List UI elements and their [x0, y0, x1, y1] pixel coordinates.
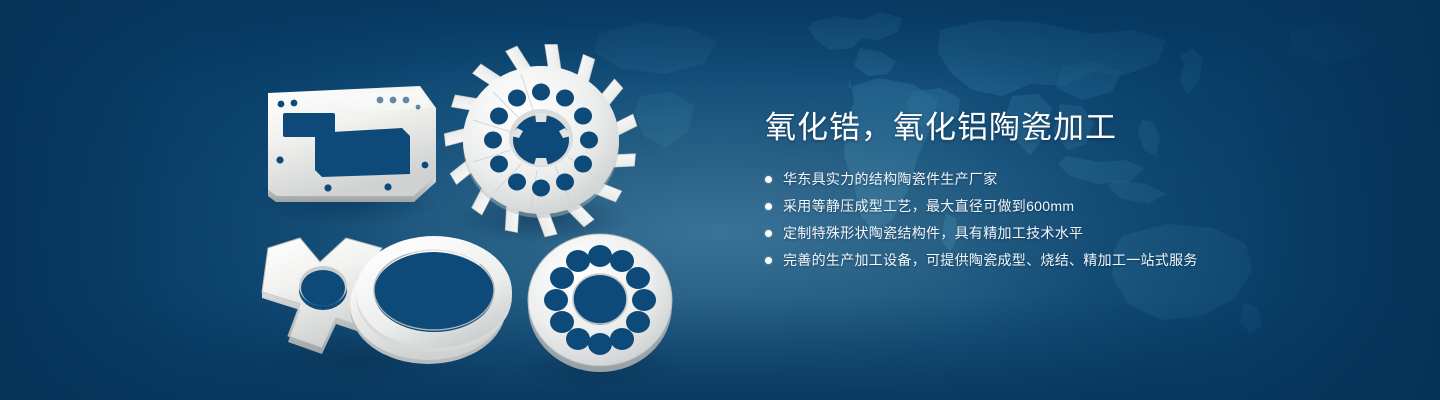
bullet-dot-icon — [765, 176, 772, 183]
feature-text: 完善的生产加工设备，可提供陶瓷成型、烧结、精加工一站式服务 — [783, 250, 1198, 271]
bullet-dot-icon — [765, 203, 772, 210]
list-item: 完善的生产加工设备，可提供陶瓷成型、烧结、精加工一站式服务 — [765, 250, 1385, 271]
list-item: 采用等静压成型工艺，最大直径可做到600mm — [765, 196, 1385, 217]
list-item: 华东具实力的结构陶瓷件生产厂家 — [765, 169, 1385, 190]
feature-text: 华东具实力的结构陶瓷件生产厂家 — [783, 169, 998, 190]
ceramic-machined-plate — [268, 86, 436, 202]
banner-copy: 氧化锆，氧化铝陶瓷加工 华东具实力的结构陶瓷件生产厂家 采用等静压成型工艺，最大… — [765, 108, 1385, 277]
bullet-dot-icon — [765, 257, 772, 264]
page-title: 氧化锆，氧化铝陶瓷加工 — [765, 108, 1385, 148]
feature-list: 华东具实力的结构陶瓷件生产厂家 采用等静压成型工艺，最大直径可做到600mm 定… — [765, 169, 1385, 271]
feature-text: 定制特殊形状陶瓷结构件，具有精加工技术水平 — [783, 223, 1083, 244]
ceramic-perforated-disc — [528, 234, 672, 372]
hero-banner: 氧化锆，氧化铝陶瓷加工 华东具实力的结构陶瓷件生产厂家 采用等静压成型工艺，最大… — [0, 0, 1440, 400]
product-photo-group — [0, 0, 720, 400]
list-item: 定制特殊形状陶瓷结构件，具有精加工技术水平 — [765, 223, 1385, 244]
feature-text: 采用等静压成型工艺，最大直径可做到600mm — [783, 196, 1074, 217]
bullet-dot-icon — [765, 230, 772, 237]
